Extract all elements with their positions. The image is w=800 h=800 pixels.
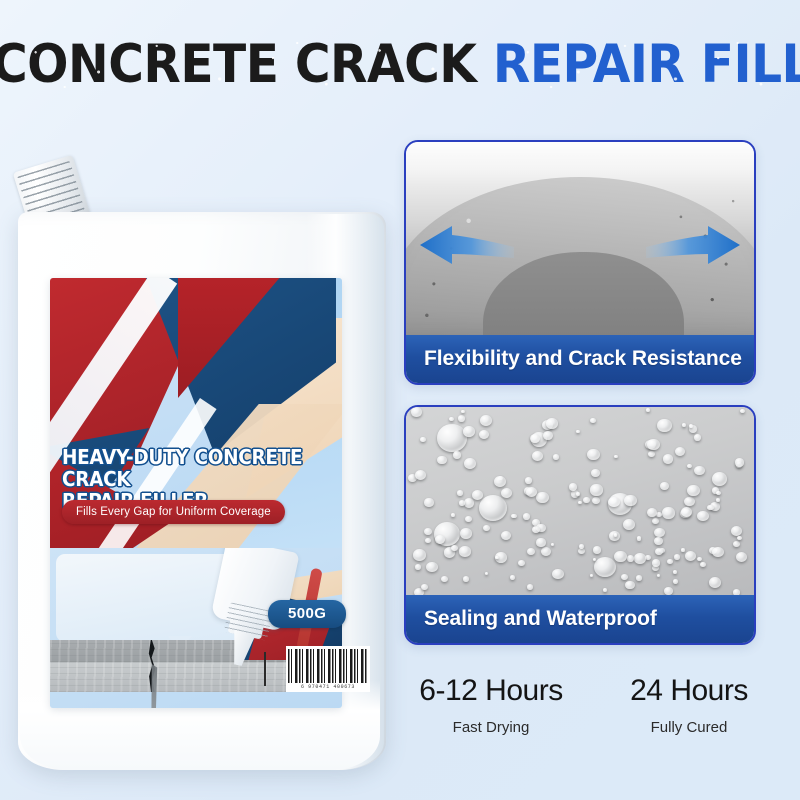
flexibility-photo xyxy=(406,142,754,339)
waterproof-caption-bar: Sealing and Waterproof xyxy=(406,595,754,643)
arrow-left-icon xyxy=(418,225,514,265)
net-weight-badge: 500G xyxy=(268,600,346,628)
water-droplet xyxy=(511,514,516,519)
water-droplet xyxy=(413,549,426,561)
label-title-line-1: HEAVY-DUTY CONCRETE CRACK xyxy=(62,445,302,491)
water-droplet xyxy=(569,483,578,491)
arrow-right-icon xyxy=(646,225,742,265)
water-droplet xyxy=(608,497,619,507)
stat-fully-cured-value: 24 Hours xyxy=(590,672,788,710)
barcode-guard-bar xyxy=(264,652,266,686)
water-droplet xyxy=(472,490,483,500)
headline-accent-text: REPAIR FILLER xyxy=(493,36,800,94)
water-droplet xyxy=(590,418,596,423)
water-droplet xyxy=(627,555,635,562)
water-droplet xyxy=(532,526,540,533)
water-droplet xyxy=(716,498,720,501)
water-droplet xyxy=(576,492,580,495)
water-droplet xyxy=(420,437,425,442)
water-droplet xyxy=(707,505,713,511)
water-droplet xyxy=(654,528,665,538)
water-droplet xyxy=(667,559,673,564)
water-droplet xyxy=(525,477,533,484)
water-droplet xyxy=(527,584,533,590)
water-droplet xyxy=(424,498,433,506)
label-tagline-badge: Fills Every Gap for Uniform Coverage xyxy=(62,500,285,524)
water-droplet xyxy=(657,574,660,577)
water-droplet xyxy=(636,575,642,580)
water-droplet xyxy=(736,552,747,562)
water-droplet xyxy=(614,455,617,458)
water-droplet xyxy=(479,495,507,521)
water-droplet xyxy=(551,543,554,546)
water-droplets xyxy=(406,407,754,599)
water-droplet xyxy=(675,447,686,457)
water-droplet xyxy=(594,557,616,577)
water-droplet xyxy=(716,491,721,495)
stat-fast-drying: 6-12 Hours Fast Drying xyxy=(392,672,590,762)
water-droplet xyxy=(593,546,601,553)
water-droplet xyxy=(681,548,685,551)
page-headline: CONCRETE CRACK REPAIR FILLER xyxy=(0,36,800,94)
water-droplet xyxy=(681,507,692,517)
water-droplet xyxy=(526,487,537,497)
water-droplet xyxy=(712,472,727,486)
water-droplet xyxy=(694,434,701,440)
barcode: 6 970471 400673 xyxy=(286,646,370,692)
water-droplet xyxy=(583,497,589,503)
water-droplet xyxy=(652,559,661,567)
water-droplet xyxy=(614,551,626,562)
water-droplet xyxy=(523,513,530,519)
water-droplet xyxy=(697,557,702,561)
water-droplet xyxy=(541,547,551,556)
water-droplet xyxy=(647,439,660,450)
barcode-bars xyxy=(288,649,368,683)
waterproof-photo xyxy=(406,407,754,599)
water-droplet xyxy=(652,518,659,524)
water-droplet xyxy=(731,526,742,536)
water-droplet xyxy=(479,430,489,439)
water-droplet xyxy=(614,533,618,536)
water-droplet xyxy=(673,570,678,574)
water-droplet xyxy=(501,531,511,540)
water-droplet xyxy=(694,466,704,475)
feature-panel-flexibility[interactable]: Flexibility and Crack Resistance xyxy=(404,140,756,385)
water-droplet xyxy=(625,581,635,590)
water-droplet xyxy=(501,488,512,498)
water-droplet xyxy=(463,576,469,582)
water-droplet xyxy=(712,547,724,558)
water-droplet xyxy=(464,498,474,507)
water-droplet xyxy=(518,560,525,566)
water-droplet xyxy=(623,519,635,530)
water-droplet xyxy=(451,545,458,552)
water-droplet xyxy=(663,454,673,463)
water-droplet xyxy=(603,588,608,592)
water-droplet xyxy=(682,423,686,427)
water-droplet xyxy=(656,512,662,517)
headline-primary-text: CONCRETE CRACK xyxy=(0,36,476,94)
water-droplet xyxy=(536,492,548,503)
water-droplet xyxy=(553,454,560,460)
water-droplet xyxy=(457,490,463,495)
water-droplet xyxy=(437,456,447,465)
water-droplet xyxy=(552,569,563,579)
water-droplet xyxy=(735,458,744,466)
water-droplet xyxy=(634,553,646,563)
water-droplet xyxy=(465,516,472,522)
water-droplet xyxy=(662,507,675,518)
water-droplet xyxy=(449,417,454,421)
feature-panel-waterproof[interactable]: Sealing and Waterproof xyxy=(404,405,756,645)
water-droplet xyxy=(654,537,663,545)
water-droplet xyxy=(687,464,692,468)
water-droplet xyxy=(645,555,651,561)
stat-fully-cured: 24 Hours Fully Cured xyxy=(590,672,788,762)
water-droplet xyxy=(687,485,699,496)
water-droplet xyxy=(485,572,489,575)
curing-time-stats: 6-12 Hours Fast Drying 24 Hours Fully Cu… xyxy=(392,672,788,762)
flexibility-caption-bar: Flexibility and Crack Resistance xyxy=(406,335,754,383)
water-droplet xyxy=(421,584,428,590)
water-droplet xyxy=(591,469,600,477)
water-droplet xyxy=(697,511,708,521)
water-droplet xyxy=(709,577,721,588)
water-droplet xyxy=(424,528,432,535)
barcode-number: 6 970471 400673 xyxy=(288,684,368,690)
product-label: HEAVY-DUTY CONCRETE CRACK REPAIR FILLER … xyxy=(50,278,342,708)
water-droplet xyxy=(532,451,543,461)
water-droplet xyxy=(621,574,628,580)
stat-fast-drying-label: Fast Drying xyxy=(392,719,590,736)
water-droplet xyxy=(463,426,475,437)
stat-fully-cured-label: Fully Cured xyxy=(590,719,788,736)
water-droplet xyxy=(592,497,600,504)
water-droplet xyxy=(674,554,680,560)
water-droplet xyxy=(546,418,558,428)
water-droplet xyxy=(543,431,553,440)
applicator-nozzle-icon xyxy=(227,630,256,668)
water-droplet xyxy=(578,501,581,504)
water-droplet xyxy=(458,415,465,422)
product-pouch-image: HEAVY-DUTY CONCRETE CRACK REPAIR FILLER … xyxy=(18,160,386,770)
water-droplet xyxy=(576,430,580,433)
water-droplet xyxy=(530,434,540,443)
water-droplet xyxy=(510,575,515,579)
water-droplet xyxy=(415,470,426,480)
water-droplet xyxy=(425,538,431,543)
water-droplet xyxy=(733,541,740,547)
water-droplet xyxy=(453,451,462,459)
water-droplet xyxy=(459,500,465,505)
water-droplet xyxy=(415,564,421,570)
water-droplet xyxy=(685,551,697,561)
water-droplet xyxy=(689,424,693,428)
water-droplet xyxy=(590,574,593,577)
water-droplet xyxy=(646,408,650,412)
water-droplet xyxy=(464,458,476,469)
water-droplet xyxy=(527,548,535,555)
water-droplet xyxy=(494,476,507,487)
water-droplet xyxy=(700,562,706,567)
water-droplet xyxy=(426,562,438,573)
water-droplet xyxy=(655,548,664,556)
water-droplet xyxy=(460,528,472,538)
stat-fast-drying-value: 6-12 Hours xyxy=(392,672,590,710)
water-droplet xyxy=(737,536,742,541)
water-droplet xyxy=(624,495,637,507)
water-droplet xyxy=(480,415,492,426)
water-droplet xyxy=(740,409,745,413)
water-droplet xyxy=(590,484,602,495)
water-droplet xyxy=(648,451,655,458)
water-droplet xyxy=(459,546,471,556)
water-droplet xyxy=(441,576,448,582)
water-droplet xyxy=(451,513,455,517)
water-droplet xyxy=(536,538,545,546)
water-droplet xyxy=(411,407,422,417)
water-droplet xyxy=(637,536,642,540)
water-droplet xyxy=(647,508,657,517)
water-droplet xyxy=(483,525,490,531)
water-droplet xyxy=(673,579,678,584)
water-droplet xyxy=(461,410,465,413)
water-droplet xyxy=(684,497,694,506)
water-droplet xyxy=(660,482,670,491)
water-droplet xyxy=(587,449,599,460)
water-droplet xyxy=(593,558,596,561)
water-droplet xyxy=(657,419,672,433)
